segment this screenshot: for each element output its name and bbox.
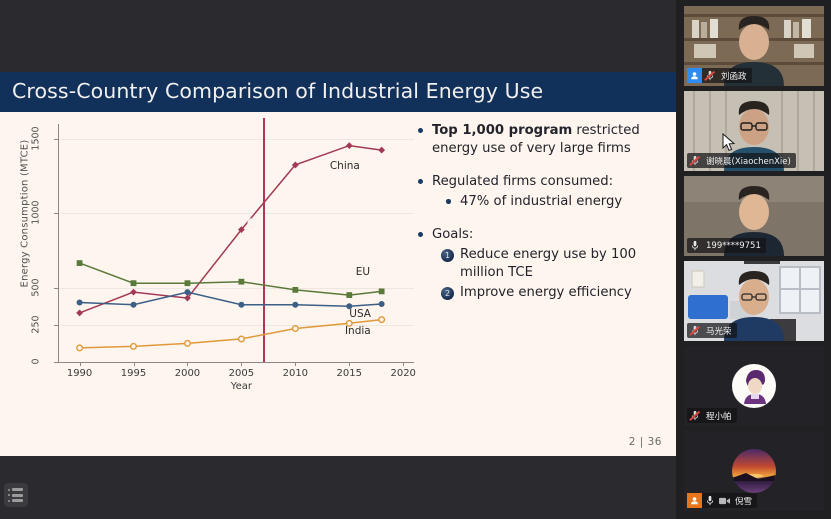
chart-marker-china <box>76 310 83 317</box>
chart-series-label-china: China <box>330 160 360 172</box>
participant-name-bar: 马光荣 <box>687 323 737 338</box>
participant-video-strip[interactable]: 刘函政 谢晓晨(XiaochenXie) 199****9751 <box>676 0 831 519</box>
bullet-text: Goals: <box>432 227 473 242</box>
participant-tile[interactable]: 倪雪 <box>684 431 824 511</box>
bullet-spacer <box>412 213 670 226</box>
bullet-item: 2Improve energy efficiency <box>412 284 670 302</box>
chart-marker-usa <box>238 302 244 308</box>
chart-marker-usa <box>77 300 83 306</box>
participant-name-bar: 刘函政 <box>687 68 752 83</box>
host-badge-icon <box>687 493 702 508</box>
page-title: Cross-Country Comparison of Industrial E… <box>12 79 543 103</box>
camera-off-icon <box>717 493 731 508</box>
chart-highlight-marker <box>248 219 256 227</box>
bullet-item: 47% of industrial energy <box>412 193 670 211</box>
bullet-emphasis: Top 1,000 program <box>432 123 572 138</box>
participant-tile[interactable]: 谢晓晨(XiaochenXie) <box>684 91 824 171</box>
energy-consumption-chart: Energy Consumption (MTCE) 02505001000150… <box>6 112 426 412</box>
avatar <box>732 364 776 408</box>
participant-name: 马光荣 <box>702 325 732 337</box>
chart-marker-usa <box>379 301 385 307</box>
participant-tile[interactable]: 199****9751 <box>684 176 824 256</box>
slide-body: Energy Consumption (MTCE) 02505001000150… <box>0 112 676 456</box>
numbered-bullet-icon: 1 <box>441 249 454 262</box>
slide-page-indicator: 2 | 36 <box>629 436 662 448</box>
mic-icon <box>687 238 702 253</box>
mic-muted-icon <box>687 153 702 168</box>
chart-series-label-usa: USA <box>349 308 371 320</box>
chart-marker-eu <box>379 288 385 294</box>
slide-bullet-list: Top 1,000 program restricted energy use … <box>412 122 670 304</box>
bullet-item: Goals: <box>412 226 670 244</box>
participant-tile[interactable]: 马光荣 <box>684 261 824 341</box>
bullet-text: 47% of industrial energy <box>460 194 622 209</box>
bullet-dot-icon <box>418 232 423 237</box>
presentation-slide[interactable]: Cross-Country Comparison of Industrial E… <box>0 72 676 456</box>
participant-name-bar: 程小帕 <box>687 408 737 423</box>
chart-marker-eu <box>346 292 352 298</box>
avatar <box>732 449 776 493</box>
chart-marker-india <box>379 317 385 323</box>
chart-marker-eu <box>131 280 137 286</box>
chart-marker-china <box>130 289 137 296</box>
slide-title-bar: Cross-Country Comparison of Industrial E… <box>0 72 676 112</box>
mic-muted-icon <box>702 68 717 83</box>
chart-marker-india <box>77 345 83 351</box>
chart-marker-eu <box>292 287 298 293</box>
mouse-cursor <box>722 133 736 153</box>
participant-name: 谢晓晨(XiaochenXie) <box>702 155 791 167</box>
chart-series-label-eu: EU <box>356 266 370 278</box>
bullet-item: 1Reduce energy use by 100 million TCE <box>412 246 670 282</box>
chart-marker-china <box>346 142 353 149</box>
bullet-text: Improve energy efficiency <box>460 285 632 300</box>
meeting-window: Cross-Country Comparison of Industrial E… <box>0 0 831 519</box>
chart-marker-china <box>378 147 385 154</box>
participant-name: 刘函政 <box>717 70 747 82</box>
bullet-text: Reduce energy use by 100 million TCE <box>460 247 636 280</box>
chart-marker-india <box>131 344 137 350</box>
chart-plot-area <box>6 112 426 412</box>
chart-marker-india <box>293 326 299 332</box>
participant-name: 199****9751 <box>702 241 761 251</box>
chart-marker-usa <box>131 302 137 308</box>
chart-marker-india <box>239 336 245 342</box>
chart-line-eu <box>80 263 382 295</box>
numbered-bullet-icon: 2 <box>441 287 454 300</box>
participant-name-bar: 谢晓晨(XiaochenXie) <box>687 153 796 168</box>
chart-marker-eu <box>77 260 83 266</box>
bullet-dot-icon <box>418 128 423 133</box>
bullet-dot-icon <box>418 179 423 184</box>
participant-tile[interactable]: 程小帕 <box>684 346 824 426</box>
mic-icon <box>702 493 717 508</box>
bullet-dot-icon <box>446 199 451 204</box>
meeting-controls-menu-icon[interactable] <box>4 483 28 507</box>
participant-name-bar: 199****9751 <box>687 238 766 253</box>
chart-marker-eu <box>185 280 191 286</box>
mic-muted-icon <box>687 408 702 423</box>
chart-series-label-india: India <box>345 325 371 337</box>
participant-name: 倪雪 <box>731 495 752 507</box>
host-badge-icon <box>687 68 702 83</box>
mic-muted-icon <box>687 323 702 338</box>
chart-marker-eu <box>238 279 244 285</box>
bullet-item: Top 1,000 program restricted energy use … <box>412 122 670 158</box>
chart-x-axis-label: Year <box>211 381 271 392</box>
bullet-text: Regulated firms consumed: <box>432 174 613 189</box>
bullet-item: Regulated firms consumed: <box>412 173 670 191</box>
participant-name-bar: 倪雪 <box>687 493 757 508</box>
participant-name: 程小帕 <box>702 410 732 422</box>
chart-marker-usa <box>184 289 190 295</box>
chart-marker-usa <box>292 302 298 308</box>
chart-marker-india <box>185 341 191 347</box>
participant-tile[interactable]: 刘函政 <box>684 6 824 86</box>
chart-line-india <box>80 320 382 348</box>
bullet-spacer <box>412 160 670 173</box>
shared-screen-area[interactable]: Cross-Country Comparison of Industrial E… <box>0 0 676 519</box>
